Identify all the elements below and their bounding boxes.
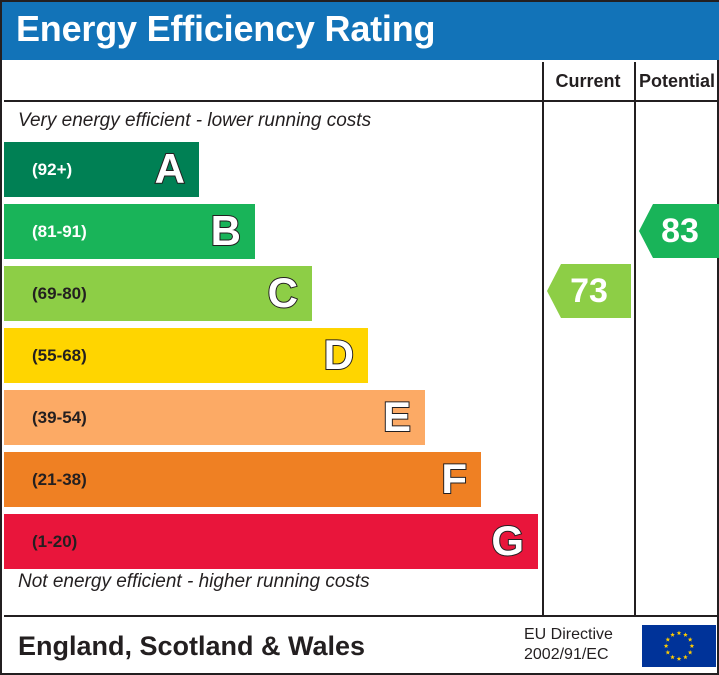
- eu-directive-label: EU Directive 2002/91/EC: [524, 625, 613, 665]
- band-range-f: (21-38): [32, 470, 87, 490]
- band-letter-g: G: [491, 520, 524, 562]
- page-title: Energy Efficiency Rating: [16, 8, 435, 50]
- rating-table: Current Potential Very energy efficient …: [4, 62, 719, 615]
- column-divider-right: [634, 62, 636, 615]
- caption-inefficient: Not energy efficient - higher running co…: [18, 571, 370, 593]
- band-range-g: (1-20): [32, 532, 77, 552]
- eu-directive-line-2: 2002/91/EC: [524, 645, 613, 665]
- band-row-e: (39-54) E: [4, 390, 425, 445]
- current-rating-value: 73: [570, 272, 608, 311]
- energy-efficiency-rating-chart: Energy Efficiency Rating Current Potenti…: [0, 0, 719, 675]
- band-letter-c: C: [268, 272, 298, 314]
- column-header-current: Current: [543, 62, 633, 100]
- band-letter-d: D: [324, 334, 354, 376]
- current-rating-badge: 73: [547, 264, 631, 318]
- footer: England, Scotland & Wales EU Directive 2…: [4, 615, 719, 673]
- band-row-b: (81-91) B: [4, 204, 255, 259]
- band-row-a: (92+) A: [4, 142, 199, 197]
- eu-flag-icon: [641, 624, 717, 668]
- band-letter-b: B: [211, 210, 241, 252]
- column-header-row: Current Potential: [4, 62, 719, 102]
- band-row-g: (1-20) G: [4, 514, 538, 569]
- potential-rating-badge: 83: [639, 204, 719, 258]
- band-letter-a: A: [155, 148, 185, 190]
- potential-rating-value: 83: [661, 212, 699, 251]
- band-letter-e: E: [383, 396, 411, 438]
- title-bar: Energy Efficiency Rating: [2, 2, 719, 60]
- eu-directive-line-1: EU Directive: [524, 625, 613, 645]
- band-bar-list: (92+) A (81-91) B (69-80) C (55-68) D (3…: [4, 142, 542, 572]
- footer-region-label: England, Scotland & Wales: [18, 631, 365, 662]
- band-letter-f: F: [441, 458, 467, 500]
- band-range-c: (69-80): [32, 284, 87, 304]
- column-header-potential: Potential: [635, 62, 719, 100]
- band-row-d: (55-68) D: [4, 328, 368, 383]
- band-row-c: (69-80) C: [4, 266, 312, 321]
- band-range-d: (55-68): [32, 346, 87, 366]
- band-row-f: (21-38) F: [4, 452, 481, 507]
- column-divider-left: [542, 62, 544, 615]
- band-range-b: (81-91): [32, 222, 87, 242]
- band-range-a: (92+): [32, 160, 72, 180]
- band-chart-pane: Very energy efficient - lower running co…: [4, 102, 542, 615]
- caption-efficient: Very energy efficient - lower running co…: [18, 110, 371, 132]
- band-range-e: (39-54): [32, 408, 87, 428]
